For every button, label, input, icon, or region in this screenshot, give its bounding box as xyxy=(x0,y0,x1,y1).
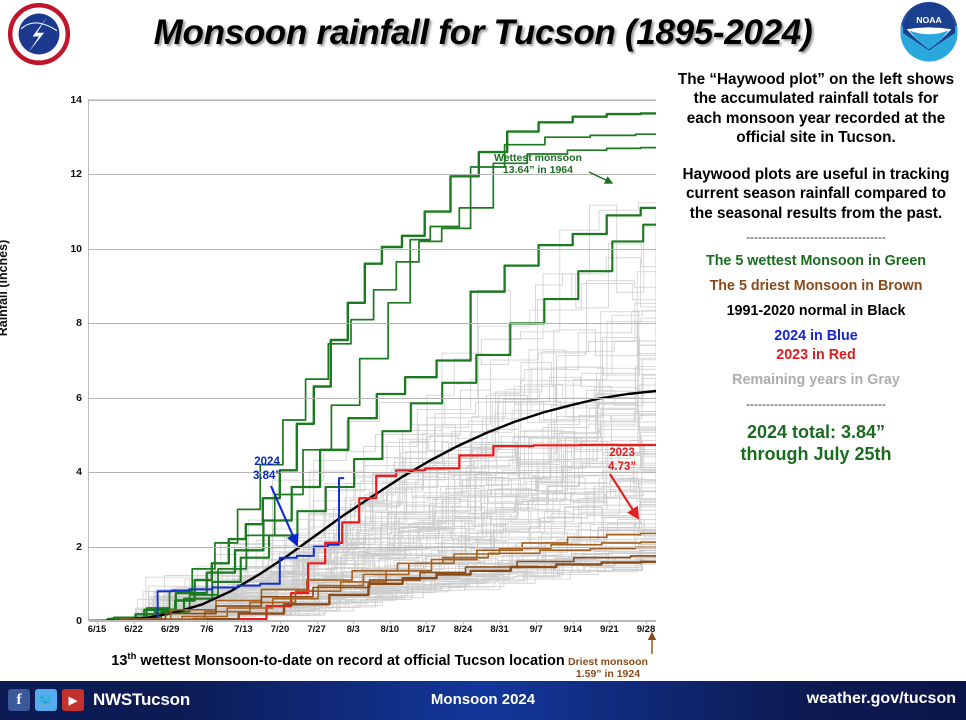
noaa-logo: NOAA xyxy=(898,2,960,64)
x-axis-tick-mark xyxy=(390,620,391,624)
x-axis-tick-mark xyxy=(134,620,135,624)
slide-footer: f 🐦 ▶ NWSTucson Monsoon 2024 weather.gov… xyxy=(0,681,966,720)
annotation-wettest-line2: 13.64” in 1964 xyxy=(494,164,582,176)
annotation-wettest-monsoon: Wettest monsoon 13.64” in 1964 xyxy=(494,152,582,177)
x-axis-tick: 8/3 xyxy=(347,624,360,635)
x-axis-tick-mark xyxy=(170,620,171,624)
svg-text:★ ★ ★: ★ ★ ★ xyxy=(30,58,49,65)
annotation-2023-value: 4.73” xyxy=(608,461,636,475)
divider-bottom: ----------------------------------- xyxy=(666,397,966,411)
season-total: 2024 total: 3.84” through July 25th xyxy=(666,421,966,466)
y-axis-tick: 6 xyxy=(76,392,82,404)
x-axis-tick: 7/20 xyxy=(271,624,290,635)
legend-wettest: The 5 wettest Monsoon in Green xyxy=(666,253,966,270)
x-axis-tick: 7/13 xyxy=(234,624,253,635)
legend-normal: 1991-2020 normal in Black xyxy=(666,303,966,320)
x-axis-tick: 6/15 xyxy=(88,624,107,635)
x-axis-tick: 6/22 xyxy=(124,624,143,635)
legend-2024: 2024 in Blue xyxy=(666,328,966,345)
y-axis-tick: 12 xyxy=(70,168,82,180)
x-axis-tick: 8/10 xyxy=(381,624,400,635)
website-link[interactable]: weather.gov/tucson xyxy=(807,690,956,708)
gridline: 8 xyxy=(89,323,656,324)
y-axis-tick: 14 xyxy=(70,94,82,106)
x-axis-tick: 9/21 xyxy=(600,624,619,635)
nws-logo: ★ ★ ★ xyxy=(6,2,72,66)
caption-rank-suffix: th xyxy=(127,651,136,662)
x-axis-tick: 9/28 xyxy=(637,624,656,635)
x-axis-tick-mark xyxy=(426,620,427,624)
x-axis-tick: 8/31 xyxy=(490,624,509,635)
x-axis-tick-mark xyxy=(207,620,208,624)
x-axis-tick-mark xyxy=(536,620,537,624)
page-title: Monsoon rainfall for Tucson (1895-2024) xyxy=(78,4,888,62)
y-axis-tick: 0 xyxy=(76,615,82,627)
x-axis-tick: 7/27 xyxy=(307,624,326,635)
legend-remaining: Remaining years in Gray xyxy=(666,372,966,389)
y-axis-label: Rainfall (inches) xyxy=(0,208,10,368)
remaining-years-group xyxy=(89,203,656,621)
x-axis-tick: 7/6 xyxy=(200,624,213,635)
explanation-panel: The “Haywood plot” on the left shows the… xyxy=(666,70,966,670)
paragraph-2: Haywood plots are useful in tracking cur… xyxy=(666,165,966,223)
annotation-driest-line1: Driest monsoon xyxy=(568,656,648,668)
gridline: 6 xyxy=(89,398,656,399)
annotation-2023: 2023 4.73” xyxy=(608,447,636,474)
y-axis-tick: 8 xyxy=(76,317,82,329)
x-axis-tick-mark xyxy=(353,620,354,624)
gridline: 2 xyxy=(89,547,656,548)
gridline: 0 xyxy=(89,621,656,622)
x-axis-tick-mark xyxy=(317,620,318,624)
x-axis-tick-mark xyxy=(97,620,98,624)
x-axis-tick: 8/17 xyxy=(417,624,436,635)
annotation-2023-year: 2023 xyxy=(608,447,636,461)
annotation-2024: 2024 3.84” xyxy=(253,456,281,483)
x-axis-tick-mark xyxy=(243,620,244,624)
haywood-chart: Rainfall (inches) noaa N A T I xyxy=(0,68,676,668)
x-axis-tick-mark xyxy=(500,620,501,624)
y-axis-tick: 10 xyxy=(70,243,82,255)
x-axis-tick-mark xyxy=(463,620,464,624)
caption-rank: 13 xyxy=(111,653,127,669)
slide-root: ★ ★ ★ Monsoon rainfall for Tucson (1895-… xyxy=(0,0,966,720)
plot-area: 02468101214 xyxy=(88,99,656,621)
x-axis-tick: 8/24 xyxy=(454,624,473,635)
season-total-line2: through July 25th xyxy=(666,443,966,466)
annotation-driest-monsoon: Driest monsoon 1.59” in 1924 xyxy=(568,656,648,681)
annotation-2024-value: 3.84” xyxy=(253,470,281,484)
legend-driest: The 5 driest Monsoon in Brown xyxy=(666,278,966,295)
annotation-2024-year: 2024 xyxy=(253,456,281,470)
paragraph-1: The “Haywood plot” on the left shows the… xyxy=(666,70,966,148)
x-axis-tick: 9/7 xyxy=(530,624,543,635)
paragraph-gap xyxy=(666,148,966,165)
y-axis-tick: 4 xyxy=(76,466,82,478)
divider-top: ----------------------------------- xyxy=(666,230,966,244)
x-axis-tick-mark xyxy=(280,620,281,624)
x-axis-tick-mark xyxy=(646,620,647,624)
gridline: 4 xyxy=(89,472,656,473)
gridline: 14 xyxy=(89,100,656,101)
x-axis-tick: 6/29 xyxy=(161,624,180,635)
x-axis-tick-mark xyxy=(573,620,574,624)
slide-header: ★ ★ ★ Monsoon rainfall for Tucson (1895-… xyxy=(0,0,966,68)
gridline: 10 xyxy=(89,249,656,250)
svg-text:NOAA: NOAA xyxy=(916,15,942,25)
series-canvas xyxy=(89,100,656,621)
y-axis-tick: 2 xyxy=(76,541,82,553)
season-total-line1: 2024 total: 3.84” xyxy=(666,421,966,444)
legend-2023: 2023 in Red xyxy=(666,347,966,364)
x-axis-tick-mark xyxy=(609,620,610,624)
annotation-wettest-line1: Wettest monsoon xyxy=(494,152,582,164)
caption-text: wettest Monsoon-to-date on record at off… xyxy=(140,653,564,669)
annotation-driest-line2: 1.59” in 1924 xyxy=(568,668,648,680)
x-axis-tick: 9/14 xyxy=(564,624,583,635)
x-axis-line xyxy=(88,620,656,621)
